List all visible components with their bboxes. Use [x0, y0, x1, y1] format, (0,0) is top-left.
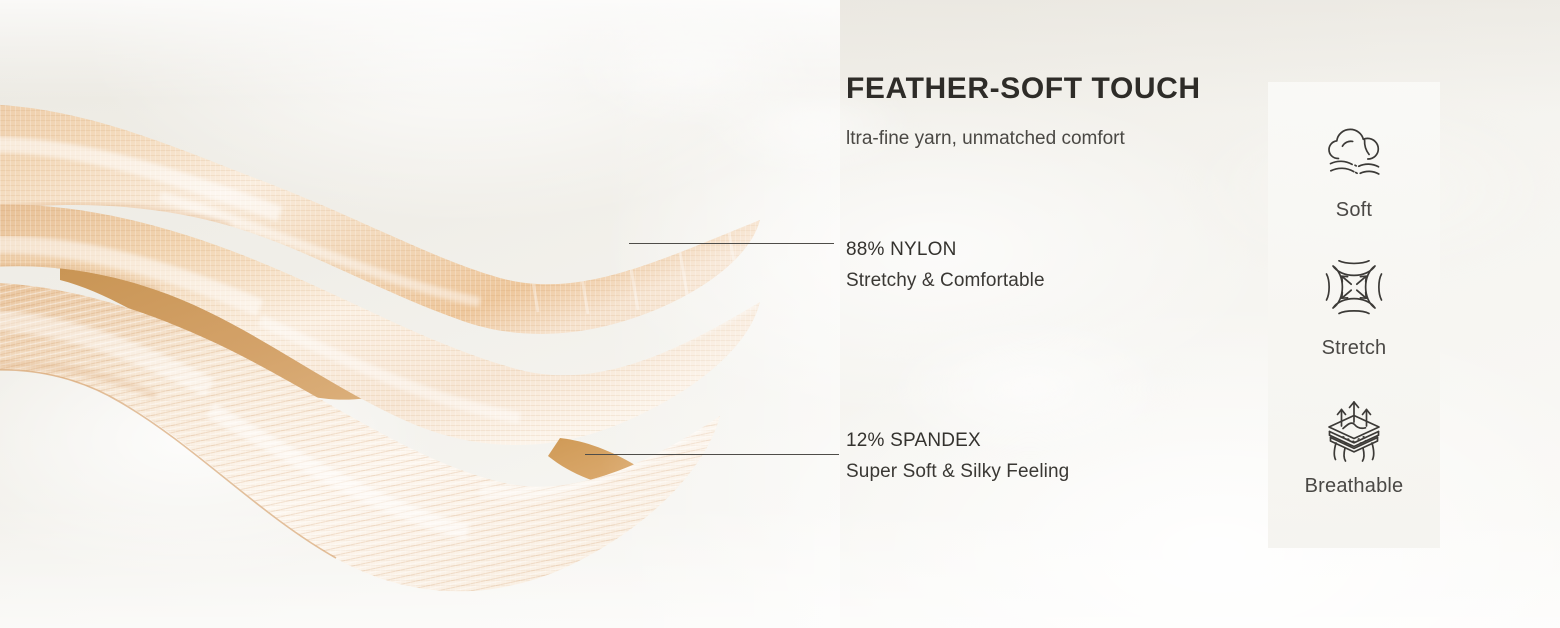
fabric-top-fade	[0, 0, 840, 100]
feature-panel: Soft	[1268, 82, 1440, 548]
feature-item-breathable: Breathable	[1268, 398, 1440, 498]
feature-item-stretch: Stretch	[1268, 260, 1440, 360]
page-subtitle: ltra-fine yarn, unmatched comfort	[846, 128, 1125, 150]
spec-callout-nylon: 88% NYLON Stretchy & Comfortable	[846, 240, 1045, 290]
feature-label-breathable: Breathable	[1305, 475, 1404, 498]
page-title: FEATHER-SOFT TOUCH	[846, 72, 1201, 106]
cloud-waves-icon	[1317, 122, 1391, 190]
layered-fabric-arrows-icon	[1317, 398, 1391, 466]
four-way-arrows-icon	[1317, 260, 1391, 328]
spec-subtitle-spandex: Super Soft & Silky Feeling	[846, 462, 1069, 481]
spec-callout-spandex: 12% SPANDEX Super Soft & Silky Feeling	[846, 431, 1069, 481]
feature-label-stretch: Stretch	[1322, 337, 1387, 360]
fabric-artwork	[0, 0, 840, 628]
feature-item-soft: Soft	[1268, 122, 1440, 222]
feature-label-soft: Soft	[1336, 199, 1372, 222]
spec-subtitle-nylon: Stretchy & Comfortable	[846, 271, 1045, 290]
product-feature-banner: FEATHER-SOFT TOUCH ltra-fine yarn, unmat…	[0, 0, 1560, 628]
leader-line-spandex	[585, 454, 839, 455]
spec-title-nylon: 88% NYLON	[846, 240, 1045, 259]
spec-title-spandex: 12% SPANDEX	[846, 431, 1069, 450]
leader-line-nylon	[629, 243, 834, 244]
